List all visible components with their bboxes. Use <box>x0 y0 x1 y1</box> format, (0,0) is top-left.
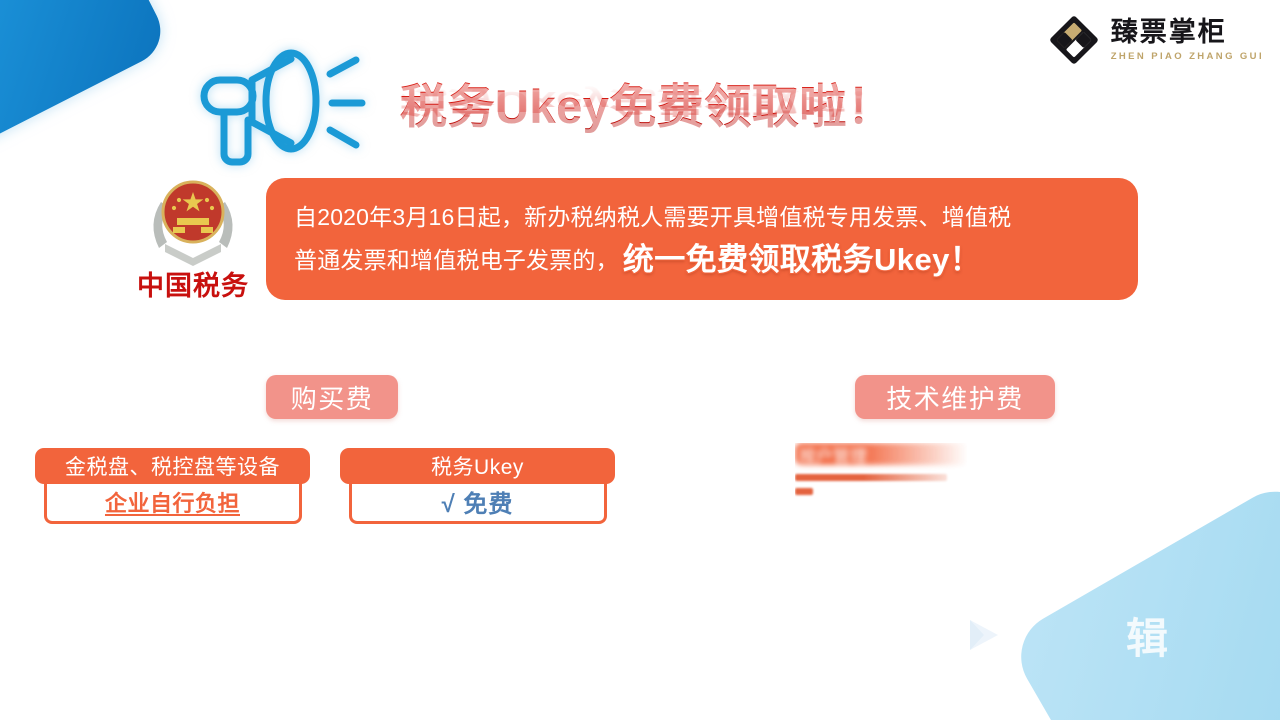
banner-line-2-emphasis: 统一免费领取税务Ukey！ <box>623 241 981 280</box>
tax-emblem-icon <box>141 172 245 268</box>
banner-line-1: 自2020年3月16日起，新办税纳税人需要开具增值税专用发票、增值税 <box>294 203 1112 232</box>
logo-name-en: ZHEN PIAO ZHANG GUI <box>1111 52 1264 62</box>
emblem-label: 中国税务 <box>137 264 249 303</box>
announcement-banner: 自2020年3月16日起，新办税纳税人需要开具增值税专用发票、增值税 普通发票和… <box>266 178 1138 300</box>
card-body-placeholder <box>795 474 947 481</box>
card-title: 税务Ukey <box>340 448 615 484</box>
decorative-corner-top-left <box>0 0 172 159</box>
section-heading-purchase-fee: 购买费 <box>266 375 398 419</box>
card-body: √ 免费 <box>349 482 607 524</box>
card-value: 企业自行负担 <box>105 486 240 518</box>
comparison-card-tax-ukey: 税务Ukey √ 免费 <box>340 448 615 524</box>
banner-line-2: 普通发票和增值税电子发票的， 统一免费领取税务Ukey！ <box>294 239 1112 278</box>
comparison-card-maintenance-animating: 按户管理 <box>795 443 975 513</box>
china-taxation-emblem: 中国税务 <box>133 172 253 306</box>
decorative-corner-bottom-right <box>1005 476 1280 720</box>
megaphone-icon <box>190 44 370 176</box>
banner-line-2-normal: 普通发票和增值税电子发票的， <box>294 246 619 275</box>
card-title: 金税盘、税控盘等设备 <box>35 448 310 484</box>
card-body-stub <box>795 488 813 495</box>
headline-block: 税务Ukey免费领取啦！ 税务Ukey免费领取啦！ <box>400 68 930 174</box>
play-triangle-icon <box>960 612 1006 658</box>
card-body: 企业自行负担 <box>44 482 302 524</box>
headline-reflection: 税务Ukey免费领取啦！ <box>400 83 894 126</box>
logo-wordmark: 臻票掌柜 ZHEN PIAO ZHANG GUI <box>1111 19 1264 62</box>
comparison-card-legacy-devices: 金税盘、税控盘等设备 企业自行负担 <box>35 448 310 524</box>
slide-canvas: 臻票掌柜 ZHEN PIAO ZHANG GUI 税务Ukey免费领取啦！ 税务… <box>0 0 1280 720</box>
card-title: 按户管理 <box>795 443 975 465</box>
logo-name-cn: 臻票掌柜 <box>1111 19 1264 46</box>
brand-logo: 臻票掌柜 ZHEN PIAO ZHANG GUI <box>1048 14 1264 66</box>
logo-diamond-icon <box>1048 14 1100 66</box>
card-value: √ 免费 <box>442 484 514 519</box>
section-heading-maintenance-fee: 技术维护费 <box>855 375 1055 419</box>
